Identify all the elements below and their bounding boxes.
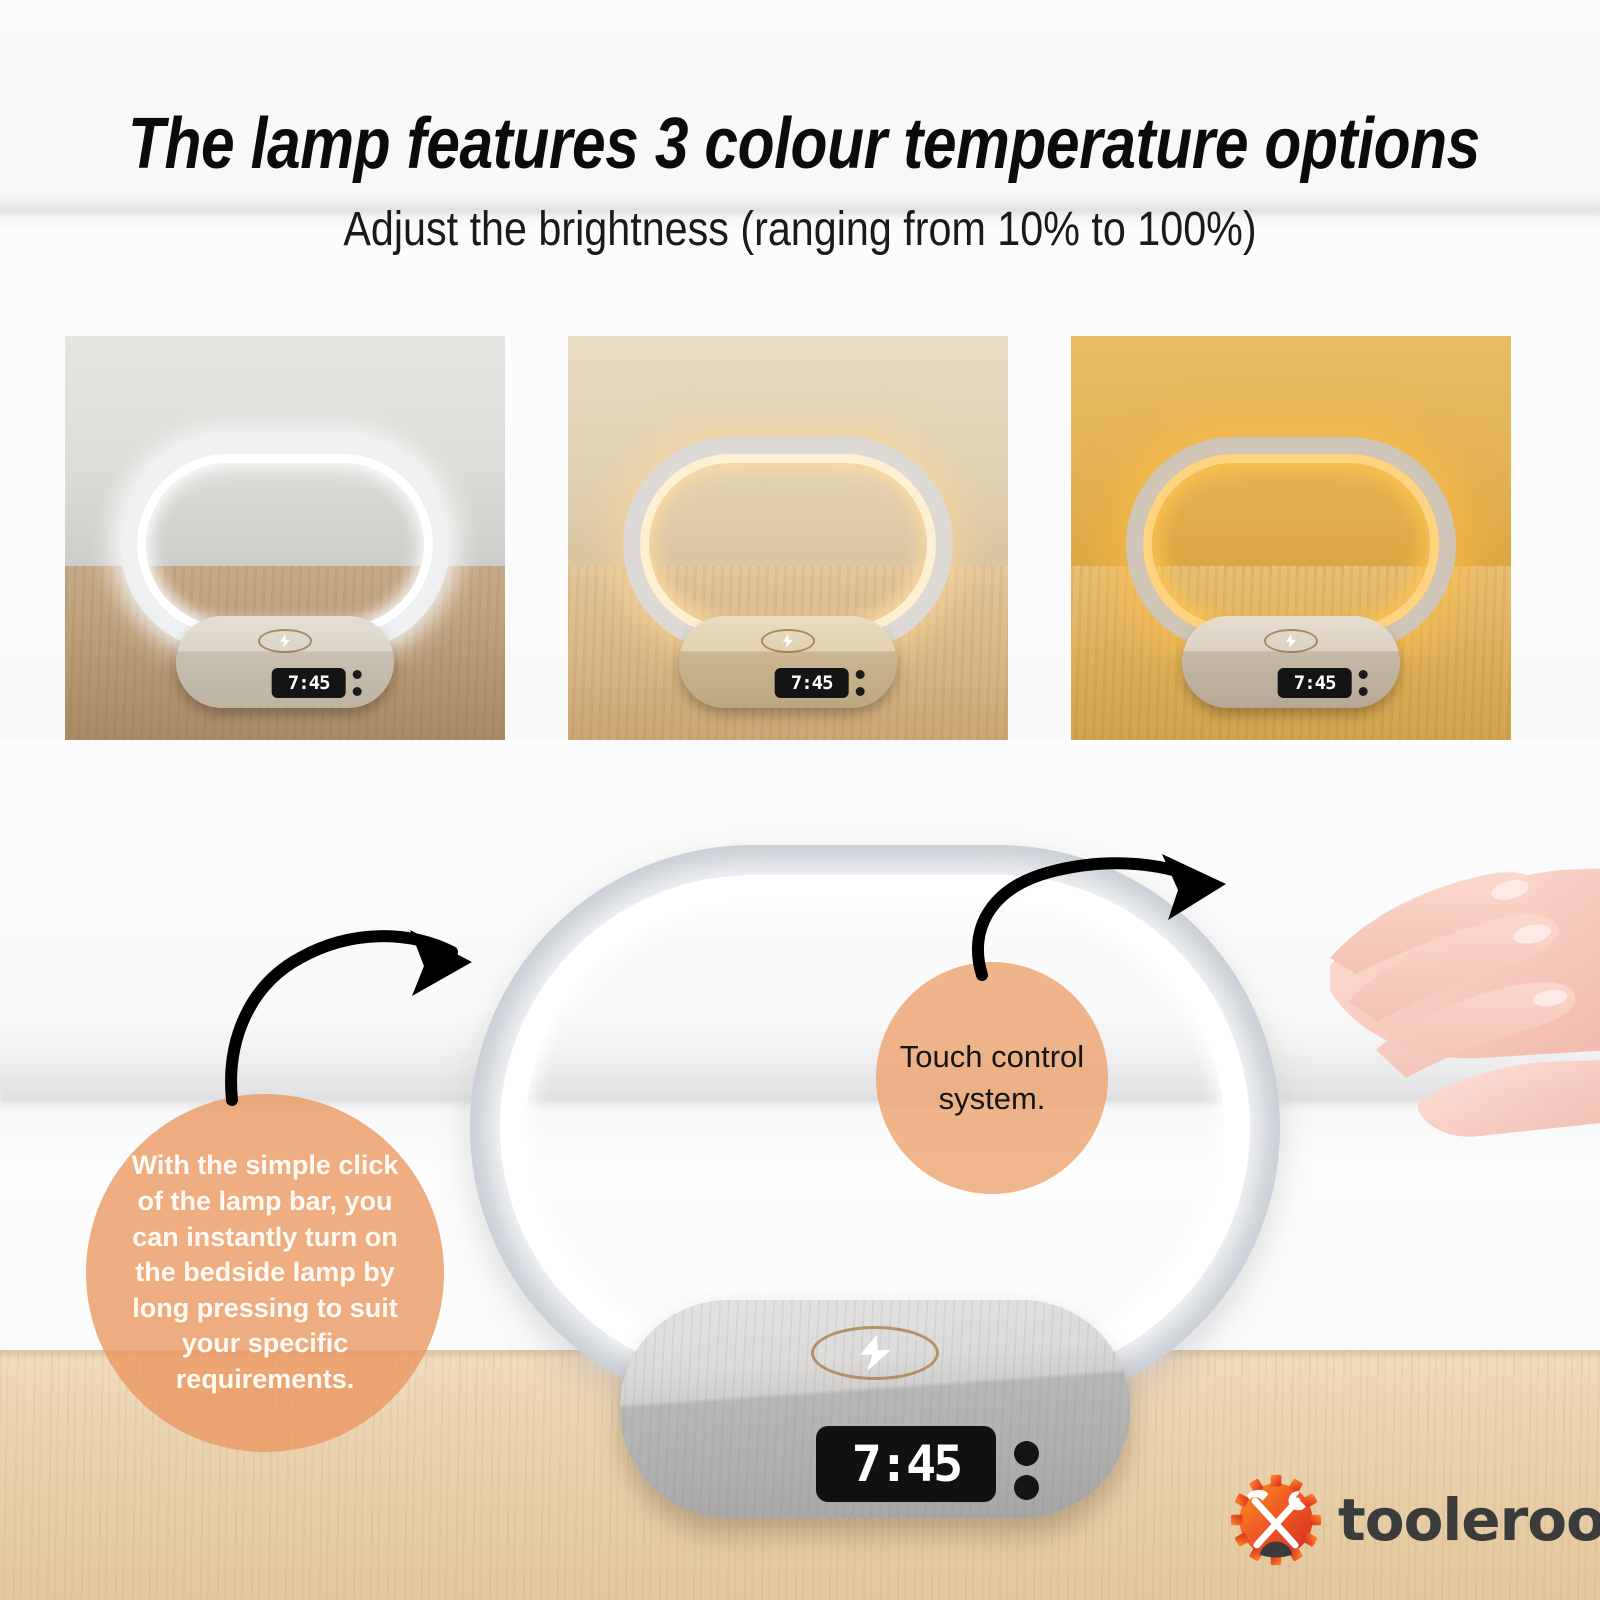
- thumbnail-clock-time: 7:45: [791, 672, 833, 694]
- thumbnail-lamp-glow: [137, 454, 433, 635]
- product-feature-graphic: The lamp features 3 colour temperature o…: [0, 0, 1600, 1600]
- callout-left-text: With the simple click of the lamp bar, y…: [116, 1148, 414, 1397]
- gear-hammer-wrench-icon: [1228, 1472, 1324, 1568]
- wireless-charging-bolt-icon: [811, 1326, 939, 1380]
- page-subheadline: Adjust the brightness (ranging from 10% …: [112, 206, 1488, 254]
- thumbnail-scene: 7:45: [65, 336, 505, 740]
- thumbnail-lamp-glow: [640, 454, 936, 635]
- thumbnail-warm-white[interactable]: 7:45: [568, 336, 1008, 740]
- main-lamp: 7:45: [470, 845, 1280, 1410]
- thumbnail-scene: 7:45: [568, 336, 1008, 740]
- thumbnail-button-top: [1359, 670, 1368, 679]
- thumbnail-lamp-base: 7:45: [176, 616, 394, 708]
- hand-photo: [1180, 750, 1600, 1180]
- thumbnail-cool-white[interactable]: 7:45: [65, 336, 505, 740]
- control-button-bottom[interactable]: [1014, 1475, 1039, 1500]
- page-headline: The lamp features 3 colour temperature o…: [128, 108, 1472, 180]
- thumbnail-clock-display: 7:45: [272, 668, 346, 698]
- thumbnail-button-bottom: [1359, 687, 1368, 696]
- colour-temperature-thumbnail-row: 7:45 7:: [0, 336, 1600, 740]
- clock-time: 7:45: [852, 1435, 960, 1493]
- thumbnail-lamp: 7:45: [623, 437, 953, 652]
- lamp-base: 7:45: [620, 1300, 1130, 1518]
- thumbnail-clock-display: 7:45: [1278, 668, 1352, 698]
- thumbnail-scene: 7:45: [1071, 336, 1511, 740]
- thumbnail-button-bottom: [856, 687, 865, 696]
- thumbnail-lamp-glow: [1143, 454, 1439, 635]
- callout-right-text: Touch control system.: [894, 1036, 1090, 1120]
- clock-display: 7:45: [816, 1426, 996, 1502]
- thumbnail-button-top: [856, 670, 865, 679]
- thumbnail-lamp: 7:45: [1126, 437, 1456, 652]
- thumbnail-amber[interactable]: 7:45: [1071, 336, 1511, 740]
- bolt-glyph: [853, 1335, 897, 1371]
- wireless-charging-bolt-icon: [761, 629, 815, 653]
- thumbnail-lamp-base: 7:45: [1182, 616, 1400, 708]
- callout-lamp-bar-click: With the simple click of the lamp bar, y…: [86, 1094, 444, 1452]
- brand-wordmark: tooleroo: [1338, 1491, 1600, 1549]
- thumbnail-lamp: 7:45: [120, 437, 450, 652]
- wireless-charging-bolt-icon: [258, 629, 312, 653]
- control-button-top[interactable]: [1014, 1441, 1039, 1466]
- thumbnail-clock-time: 7:45: [288, 672, 330, 694]
- brand-logo: tooleroo: [1228, 1468, 1548, 1572]
- thumbnail-button-bottom: [353, 687, 362, 696]
- wireless-charging-bolt-icon: [1264, 629, 1318, 653]
- thumbnail-button-top: [353, 670, 362, 679]
- thumbnail-clock-display: 7:45: [775, 668, 849, 698]
- thumbnail-lamp-base: 7:45: [679, 616, 897, 708]
- thumbnail-clock-time: 7:45: [1294, 672, 1336, 694]
- callout-touch-control: Touch control system.: [876, 962, 1108, 1194]
